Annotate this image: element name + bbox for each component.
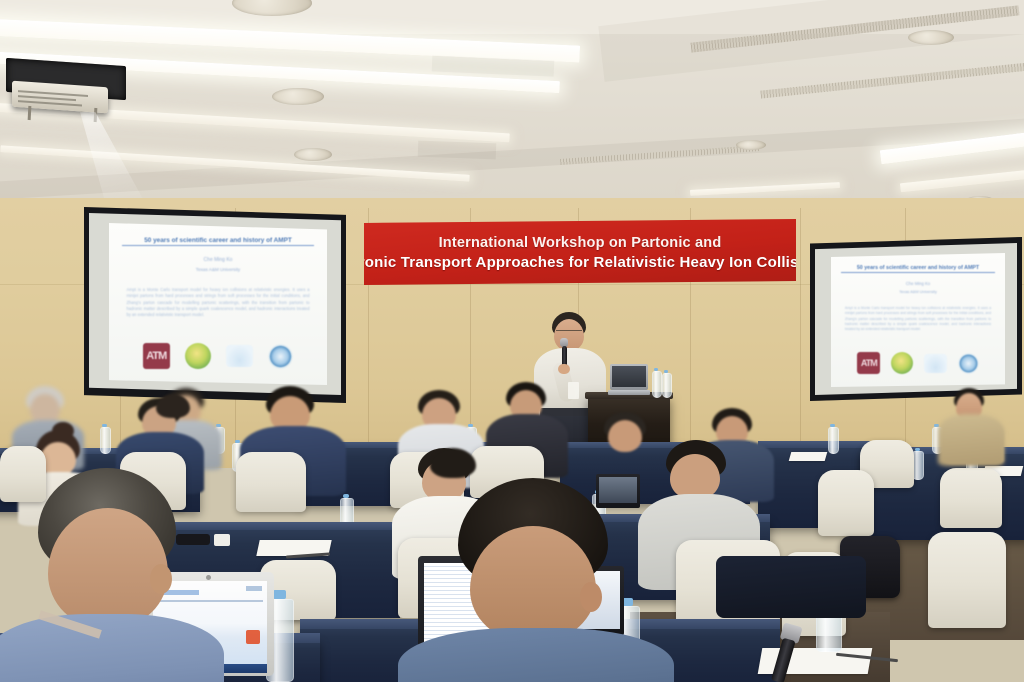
attendee-front-left-screen [148,394,206,440]
chair [928,532,1006,628]
podium-laptop [608,364,650,398]
slide-content-left: 50 years of scientific career and histor… [109,223,327,385]
workshop-banner: International Workshop on Partonic and H… [364,219,796,285]
ceiling-strip-light [690,182,840,196]
slide-affiliation: Texas A&M University [131,267,305,272]
attendee-in-front-of-podium [420,448,496,502]
chair [236,452,306,512]
hair-bun [52,422,74,440]
draped-jacket [716,556,866,618]
slide-logo-row: ATM [852,350,984,376]
texas-am-logo: ATM [143,343,170,369]
right-projection-screen: 50 years of scientific career and histor… [810,237,1022,401]
ceiling [0,0,1024,215]
ceiling-projector [6,62,136,132]
water-bottle [828,424,837,452]
slide-body-text: Ampt is a Monte Carlo transport model fo… [126,287,309,335]
hvac-grille [760,61,1024,98]
slide-body-text: Ampt is a Monte Carlo transport model fo… [845,306,991,346]
speaker-head [554,319,584,351]
slide-author: Che Ming Ko [131,257,305,263]
slide-author: Che Ming Ko [848,281,987,286]
recessed-speaker-icon [294,148,332,161]
sunburst-logo [268,344,293,369]
left-projection-screen: 50 years of scientific career and histor… [84,207,346,403]
recessed-speaker-icon [272,88,324,105]
slide-affiliation: Texas A&M University [848,289,987,294]
glasses-icon [556,330,582,335]
university-seal-logo [891,352,913,374]
slide-title: 50 years of scientific career and histor… [122,237,314,246]
water-bottle [652,368,660,396]
sunburst-logo [958,353,979,374]
slide-title: 50 years of scientific career and histor… [841,265,994,273]
texas-am-logo: ATM [857,352,880,374]
chair [818,470,874,536]
paper-sheet [789,452,828,461]
university-seal-logo [185,343,211,369]
ceiling-vent [418,141,497,160]
banner-title-line2: Hadronic Transport Approaches for Relati… [330,254,830,271]
recessed-speaker-icon [736,140,766,150]
ceiling-strip-light [900,169,1024,193]
institute-logo [226,345,253,367]
water-bottle [662,370,670,396]
slide-content-right: 50 years of scientific career and histor… [831,253,1005,387]
attendee-foreground-denim [408,478,668,682]
conference-room-photo: 50 years of scientific career and histor… [0,0,1024,682]
banner-title-line1: International Workshop on Partonic and [439,235,722,251]
institute-logo [924,354,947,373]
recessed-speaker-icon [908,30,954,45]
speaker-hand [558,364,570,374]
slide-logo-row: ATM [135,341,301,371]
attendee-right-far [938,404,1008,466]
chair [940,468,1002,528]
attendee-foreground-blue-shirt [4,468,224,682]
